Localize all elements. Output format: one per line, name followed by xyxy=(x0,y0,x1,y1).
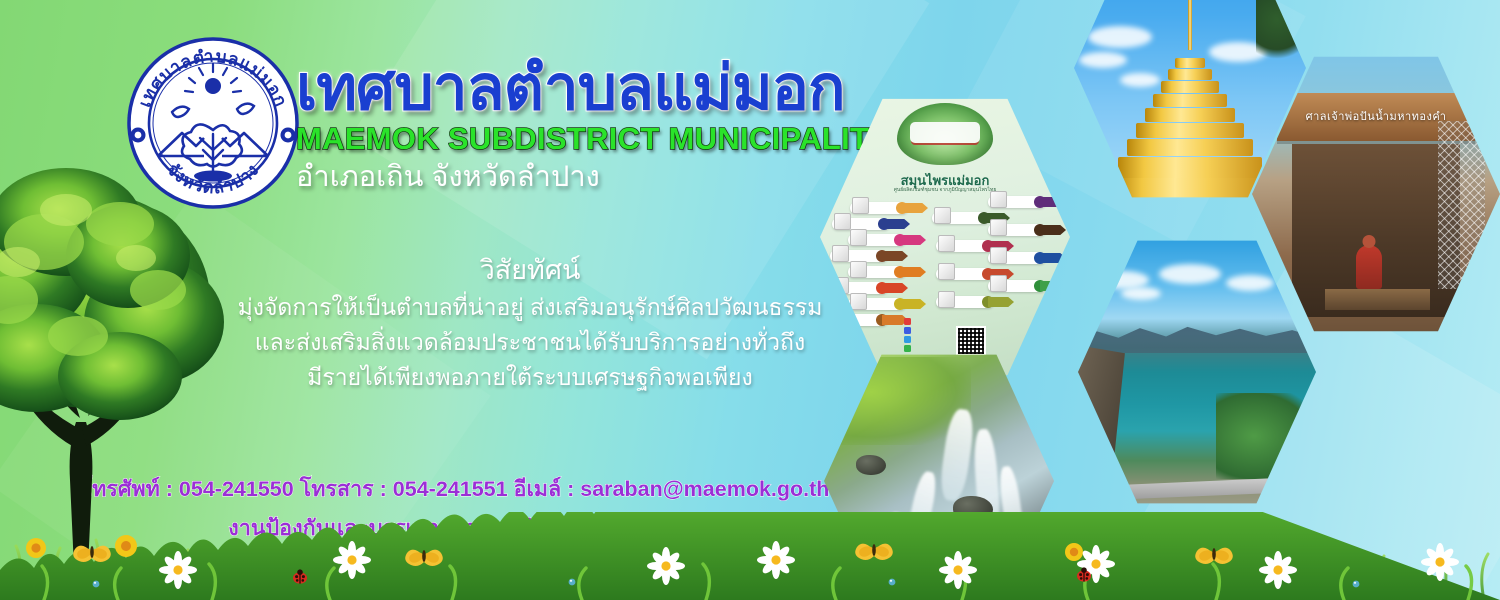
shrine-interior xyxy=(1292,144,1461,318)
mountain-range xyxy=(1078,321,1316,353)
herb-poster-subtitle: ศูนย์ผลิตภัณฑ์ชุมชน จากภูมิปัญญาสมุนไพรไ… xyxy=(820,186,1070,194)
vision-line-1: มุ่งจัดการให้เป็นตำบลที่น่าอยู่ ส่งเสริม… xyxy=(220,290,840,325)
qr-code xyxy=(956,326,986,356)
vegetation xyxy=(1216,393,1311,479)
shrine-statue xyxy=(1356,245,1382,289)
vision-line-2: และส่งเสริมสิ่งแวดล้อมประชาชนได้รับบริกา… xyxy=(220,325,840,360)
golden-chedi xyxy=(1115,0,1265,200)
vision-line-3: มีรายได้เพียงพอภายใต้ระบบเศรษฐกิจพอเพียง xyxy=(220,360,840,395)
hex-herbal-poster: สมุนไพรแม่มอก ศูนย์ผลิตภัณฑ์ชุมชน จากภูม… xyxy=(820,96,1070,378)
municipality-banner: เทศบาลตำบลแม่มอก จังหวัดลำปาง เทศบาลตำบล… xyxy=(0,0,1500,600)
hex-reservoir-photo xyxy=(1078,238,1316,506)
poster-contact-icons xyxy=(904,318,911,354)
grass-flower-border xyxy=(0,512,1500,600)
herb-brand-logo xyxy=(897,103,993,165)
shrine-mesh-gate xyxy=(1438,121,1485,289)
decorative-tree xyxy=(0,150,260,570)
dam-wall xyxy=(1078,345,1159,479)
vision-block: วิสัยทัศน์ มุ่งจัดการให้เป็นตำบลที่น่าอย… xyxy=(220,252,840,395)
hexagon-photo-collage: สมุนไพรแม่มอก ศูนย์ผลิตภัณฑ์ชุมชน จากภูม… xyxy=(806,0,1500,550)
clouds xyxy=(1078,259,1316,318)
vision-heading: วิสัยทัศน์ xyxy=(220,252,840,288)
dam-road xyxy=(1092,477,1311,501)
shrine-altar xyxy=(1325,289,1430,310)
